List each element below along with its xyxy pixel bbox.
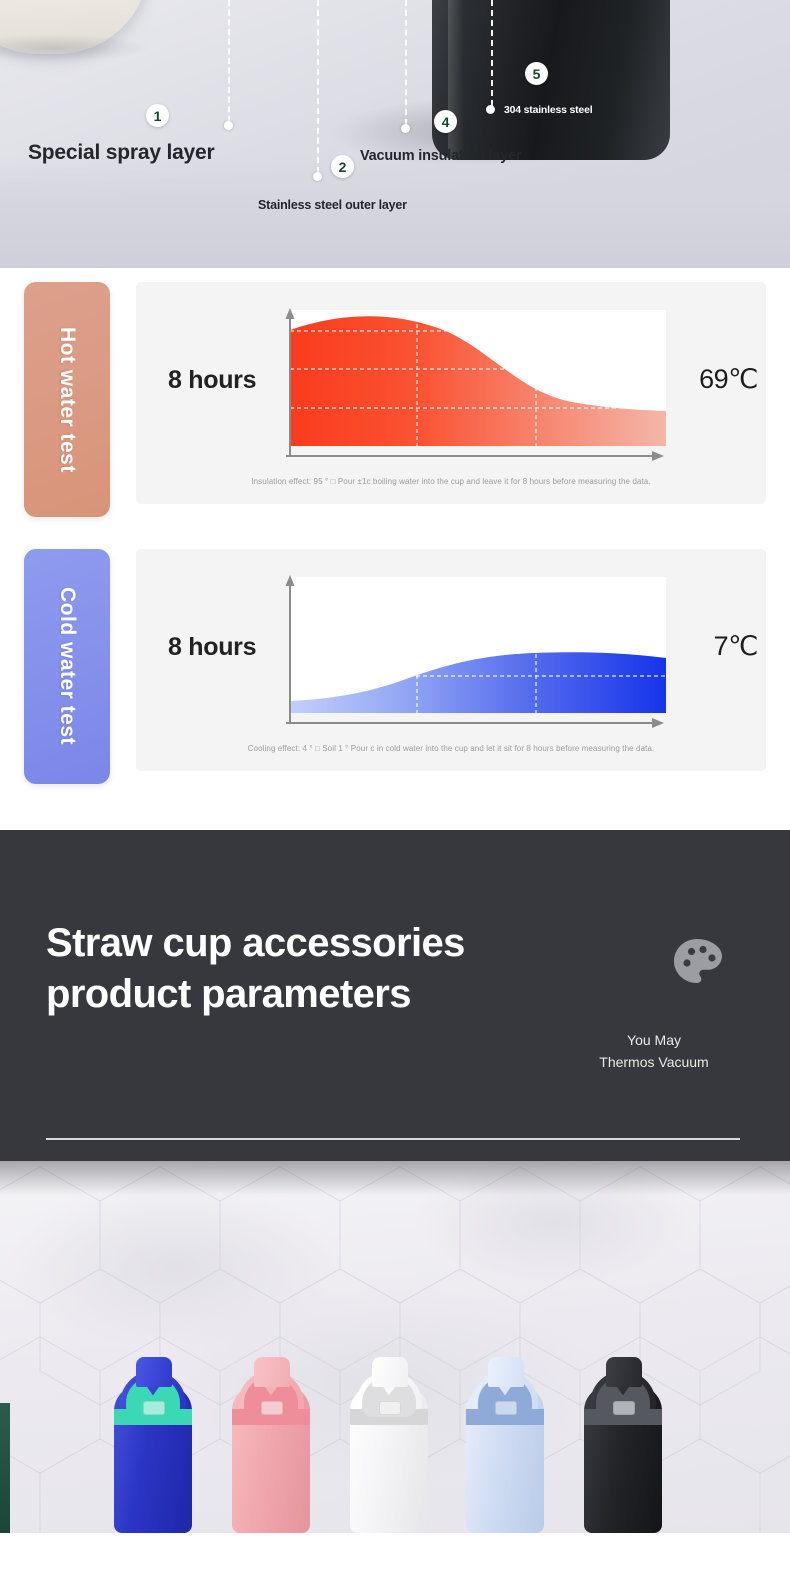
cold-water-test-section: Cold water test 8 hours 7℃	[0, 535, 790, 830]
cup-black-lid	[606, 1357, 642, 1387]
cold-water-test-tab-label: Cold water test	[55, 587, 79, 745]
cup-white-lid	[372, 1357, 408, 1387]
leader-dot-5	[486, 105, 495, 114]
page-title: Straw cup accessories product parameters	[46, 918, 465, 1020]
brand-line-2: Thermos Vacuum	[564, 1052, 744, 1074]
callout-label-vacuum-insulation-layer: Vacuum insulation layer	[360, 148, 521, 164]
product-cutaway-hero: 1 2 4 5 Special spray layer Stainless st…	[0, 0, 790, 268]
cold-water-test-caption: Cooling effect: 4 ° □ Soil 1 ° Pour c in…	[136, 744, 766, 753]
cold-result-temperature: 7℃	[714, 631, 758, 662]
hot-water-temperature-chart	[272, 306, 666, 462]
section-divider	[46, 1138, 740, 1140]
cup-pink-lid	[254, 1357, 290, 1387]
hot-water-test-caption: Insulation effect: 95 ° □ Pour ±1c boili…	[136, 477, 766, 486]
cup-pink-latch	[261, 1401, 283, 1415]
cup-light-blue	[462, 1357, 548, 1533]
cold-water-test-tab: Cold water test	[24, 549, 110, 784]
leader-dot-2	[313, 172, 322, 181]
bowl-shadow	[0, 34, 150, 62]
cold-water-test-panel: 8 hours 7℃	[136, 549, 766, 771]
product-parameters-title-band: Straw cup accessories product parameters…	[0, 830, 790, 1161]
cup-light-blue-lid	[488, 1357, 524, 1387]
leader-line-4	[405, 0, 407, 125]
page-title-line-2: product parameters	[46, 969, 465, 1020]
callout-badge-4: 4	[434, 110, 457, 133]
leader-line-1	[228, 0, 230, 122]
hot-water-test-panel: 8 hours 69℃	[136, 282, 766, 504]
table-surface	[0, 156, 790, 268]
hot-duration-label: 8 hours	[168, 366, 256, 395]
hot-result-temperature: 69℃	[699, 364, 758, 395]
cold-water-temperature-chart	[272, 573, 666, 729]
cup-black	[580, 1357, 666, 1533]
callout-label-stainless-steel-outer-layer: Stainless steel outer layer	[258, 198, 407, 212]
hot-water-test-section: Hot water test 8 hours 69℃	[0, 268, 790, 535]
cup-colorway-lineup-photo	[0, 1161, 790, 1533]
cup-black-latch	[613, 1401, 635, 1415]
leader-dot-1	[224, 121, 233, 130]
palette-icon	[672, 937, 724, 985]
cup-blue	[110, 1357, 196, 1533]
cup-white-latch	[379, 1401, 401, 1415]
callout-label-special-spray-layer: Special spray layer	[28, 141, 215, 165]
cup-light-blue-latch	[495, 1401, 517, 1415]
brand-line-1: You May	[564, 1030, 744, 1052]
green-edge-sliver	[0, 1403, 10, 1533]
callout-badge-1: 1	[146, 104, 169, 127]
callout-label-304-stainless-steel: 304 stainless steel	[504, 104, 592, 116]
cup-blue-latch	[143, 1401, 165, 1415]
callout-badge-2: 2	[331, 155, 354, 178]
cup-white	[346, 1357, 432, 1533]
black-thermos-photo	[432, 0, 670, 160]
brand-tagline: You May Thermos Vacuum	[564, 1030, 744, 1073]
hot-water-test-tab: Hot water test	[24, 282, 110, 517]
hot-water-test-tab-label: Hot water test	[55, 327, 79, 473]
leader-line-5	[491, 0, 493, 106]
leader-line-2	[317, 0, 319, 173]
cup-pink	[228, 1357, 314, 1533]
cold-duration-label: 8 hours	[168, 633, 256, 662]
leader-dot-4	[401, 124, 410, 133]
callout-badge-5: 5	[525, 62, 548, 85]
photo-top-vignette	[0, 1161, 790, 1195]
page-title-line-1: Straw cup accessories	[46, 921, 465, 965]
cup-blue-lid	[136, 1357, 172, 1387]
